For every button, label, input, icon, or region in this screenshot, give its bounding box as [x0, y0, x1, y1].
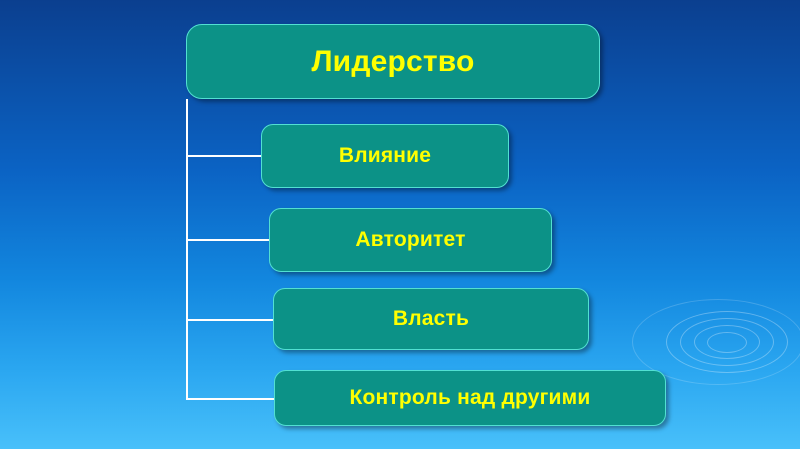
connector-branch-4: [186, 398, 276, 400]
node-influence: Влияние: [261, 124, 509, 188]
ripple-decoration-4: [707, 332, 747, 353]
node-control-over-others-label: Контроль над другими: [349, 386, 590, 410]
connector-branch-2: [186, 239, 271, 241]
ripple-decoration-2: [680, 318, 774, 366]
ripple-decoration-1: [666, 311, 788, 373]
connector-branch-3: [186, 319, 275, 321]
slide-canvas: Лидерство Влияние Авторитет Власть Контр…: [0, 0, 800, 449]
node-control-over-others: Контроль над другими: [274, 370, 666, 426]
connector-branch-1: [186, 155, 263, 157]
node-power: Власть: [273, 288, 589, 350]
node-root-leadership: Лидерство: [186, 24, 600, 99]
node-authority-label: Авторитет: [355, 228, 465, 252]
connector-trunk: [186, 99, 188, 399]
ripple-decoration-3: [694, 325, 760, 359]
node-power-label: Власть: [393, 307, 469, 331]
node-root-label: Лидерство: [311, 45, 474, 79]
node-authority: Авторитет: [269, 208, 552, 272]
node-influence-label: Влияние: [339, 144, 431, 168]
